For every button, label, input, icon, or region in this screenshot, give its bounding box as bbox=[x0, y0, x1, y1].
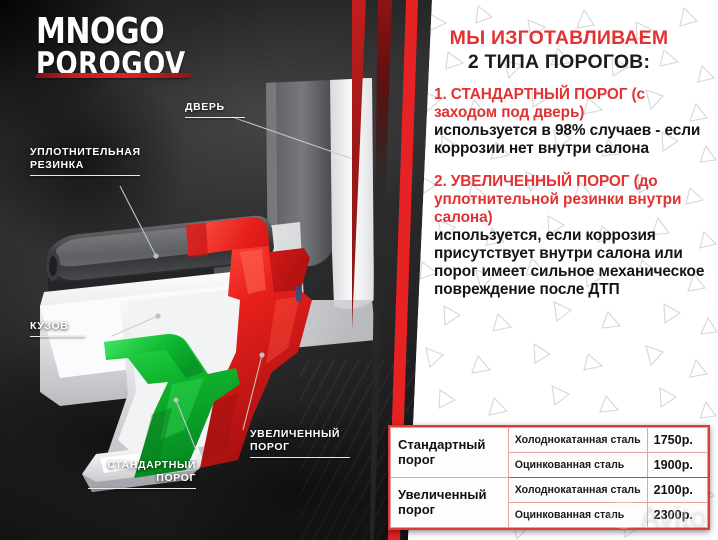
callout-underline bbox=[185, 117, 245, 118]
extended-title: 2. УВЕЛИЧЕННЫЙ ПОРОГ (до уплотнительной … bbox=[434, 173, 706, 227]
callout-extended-sill: УВЕЛИЧЕННЫЙ ПОРОГ bbox=[250, 428, 350, 458]
callout-seal: УПЛОТНИТЕЛЬНАЯ РЕЗИНКА bbox=[30, 146, 140, 176]
type-block-extended: 2. УВЕЛИЧЕННЫЙ ПОРОГ (до уплотнительной … bbox=[434, 173, 706, 298]
heading-line-1: МЫ ИЗГОТАВЛИВАЕМ bbox=[408, 27, 710, 50]
cell-steel: Холоднокатанная сталь bbox=[508, 428, 647, 453]
panel-heading: МЫ ИЗГОТАВЛИВАЕМ 2 ТИПА ПОРОГОВ: bbox=[408, 27, 710, 74]
standard-title: 1. СТАНДАРТНЫЙ ПОРОГ (с заходом под двер… bbox=[434, 86, 706, 122]
cell-price: 1750р. bbox=[647, 428, 707, 453]
clip-detail bbox=[296, 286, 302, 302]
cell-type-standard: Стандартный порог bbox=[391, 428, 509, 478]
table-row: Увеличенный порог Холоднокатанная сталь … bbox=[391, 478, 708, 503]
extended-description: используется, если коррозия присутствует… bbox=[434, 227, 706, 298]
standard-description: используется в 98% случаев - если корроз… bbox=[434, 122, 706, 158]
cell-steel: Оцинкованная сталь bbox=[508, 453, 647, 478]
table-row: Стандартный порог Холоднокатанная сталь … bbox=[391, 428, 708, 453]
callout-standard-sill: СТАНДАРТНЫЙ ПОРОГ bbox=[88, 459, 196, 489]
advertisement-image: MNOGO POROGOV bbox=[0, 0, 718, 540]
logo-line-1: MNOGO bbox=[36, 16, 226, 50]
callout-body: КУЗОВ bbox=[30, 320, 85, 337]
heading-line-2: 2 ТИПА ПОРОГОВ: bbox=[408, 51, 710, 74]
cell-steel: Оцинкованная сталь bbox=[508, 503, 647, 528]
callout-underline bbox=[30, 175, 140, 176]
callout-door: ДВЕРЬ bbox=[185, 101, 245, 118]
callout-underline bbox=[30, 336, 85, 337]
callout-body-label: КУЗОВ bbox=[30, 320, 85, 333]
brand-logo: MNOGO POROGOV bbox=[36, 16, 226, 75]
type-block-standard: 1. СТАНДАРТНЫЙ ПОРОГ (с заходом под двер… bbox=[434, 86, 706, 157]
cell-type-extended: Увеличенный порог bbox=[391, 478, 509, 528]
callout-standard-label: СТАНДАРТНЫЙ ПОРОГ bbox=[88, 459, 196, 485]
logo-accent-slash bbox=[34, 73, 193, 78]
cell-price: 2300р. bbox=[647, 503, 707, 528]
callout-extended-label: УВЕЛИЧЕННЫЙ ПОРОГ bbox=[250, 428, 350, 454]
callout-seal-label: УПЛОТНИТЕЛЬНАЯ РЕЗИНКА bbox=[30, 146, 140, 172]
panel-body: 1. СТАНДАРТНЫЙ ПОРОГ (с заходом под двер… bbox=[434, 86, 706, 314]
cell-price: 1900р. bbox=[647, 453, 707, 478]
callout-underline bbox=[88, 488, 196, 489]
callout-door-label: ДВЕРЬ bbox=[185, 101, 245, 114]
price-table: Стандартный порог Холоднокатанная сталь … bbox=[388, 425, 710, 530]
callout-underline bbox=[250, 457, 350, 458]
cell-price: 2100р. bbox=[647, 478, 707, 503]
cell-steel: Холоднокатанная сталь bbox=[508, 478, 647, 503]
